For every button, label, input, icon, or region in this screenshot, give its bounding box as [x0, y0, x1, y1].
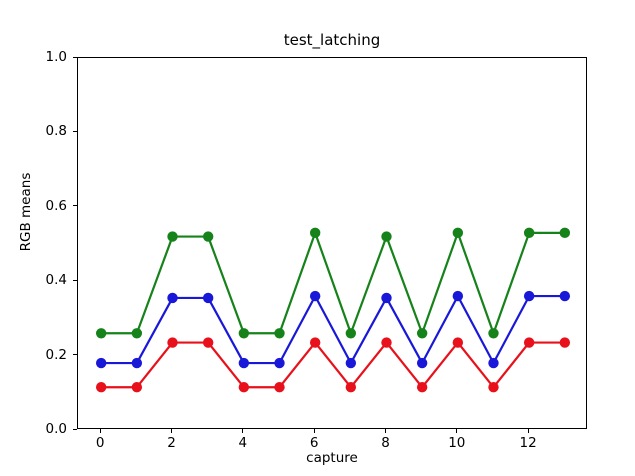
- data-point: [239, 382, 249, 392]
- y-axis-tick-labels: 0.00.20.40.60.81.0: [0, 57, 77, 429]
- data-point: [453, 291, 463, 301]
- data-point: [274, 328, 284, 338]
- data-point: [167, 337, 177, 347]
- y-tick-label: 0.6: [7, 198, 67, 214]
- data-point: [132, 382, 142, 392]
- data-point: [488, 328, 498, 338]
- data-point: [310, 228, 320, 238]
- data-point: [560, 337, 570, 347]
- data-point: [488, 382, 498, 392]
- data-point: [417, 382, 427, 392]
- x-axis-ticks: 024681012: [77, 429, 587, 459]
- data-point: [346, 382, 356, 392]
- series-layer: [78, 58, 588, 430]
- data-point: [96, 382, 106, 392]
- data-point: [524, 291, 534, 301]
- data-point: [560, 228, 570, 238]
- series-B: [96, 291, 570, 368]
- data-point: [346, 328, 356, 338]
- data-point: [381, 337, 391, 347]
- data-point: [524, 337, 534, 347]
- series-R: [96, 337, 570, 392]
- data-point: [167, 231, 177, 241]
- chart-title: test_latching: [77, 31, 587, 49]
- data-point: [381, 231, 391, 241]
- data-point: [203, 337, 213, 347]
- data-point: [310, 337, 320, 347]
- series-line: [101, 233, 565, 333]
- x-tick-label: 10: [437, 435, 477, 451]
- data-point: [453, 337, 463, 347]
- data-point: [132, 328, 142, 338]
- data-point: [310, 291, 320, 301]
- data-point: [381, 293, 391, 303]
- y-tick-label: 0.2: [7, 347, 67, 363]
- plot-area: [77, 57, 587, 429]
- y-tick-label: 0.4: [7, 272, 67, 288]
- series-G: [96, 228, 570, 339]
- data-point: [524, 228, 534, 238]
- data-point: [417, 358, 427, 368]
- figure-canvas: test_latching RGB means capture 0.00.20.…: [0, 0, 635, 476]
- data-point: [274, 382, 284, 392]
- data-point: [488, 358, 498, 368]
- x-tick-label: 8: [365, 435, 405, 451]
- data-point: [203, 231, 213, 241]
- data-point: [96, 328, 106, 338]
- x-tick-label: 6: [294, 435, 334, 451]
- y-tick-label: 1.0: [7, 49, 67, 65]
- data-point: [453, 228, 463, 238]
- y-tick-label: 0.8: [7, 123, 67, 139]
- data-point: [239, 358, 249, 368]
- data-point: [167, 293, 177, 303]
- x-tick-label: 4: [223, 435, 263, 451]
- data-point: [346, 358, 356, 368]
- data-point: [239, 328, 249, 338]
- data-point: [417, 328, 427, 338]
- y-tick-label: 0.0: [7, 421, 67, 437]
- x-tick-label: 12: [508, 435, 548, 451]
- data-point: [560, 291, 570, 301]
- data-point: [96, 358, 106, 368]
- x-tick-label: 2: [152, 435, 192, 451]
- x-tick-label: 0: [80, 435, 120, 451]
- data-point: [203, 293, 213, 303]
- data-point: [274, 358, 284, 368]
- data-point: [132, 358, 142, 368]
